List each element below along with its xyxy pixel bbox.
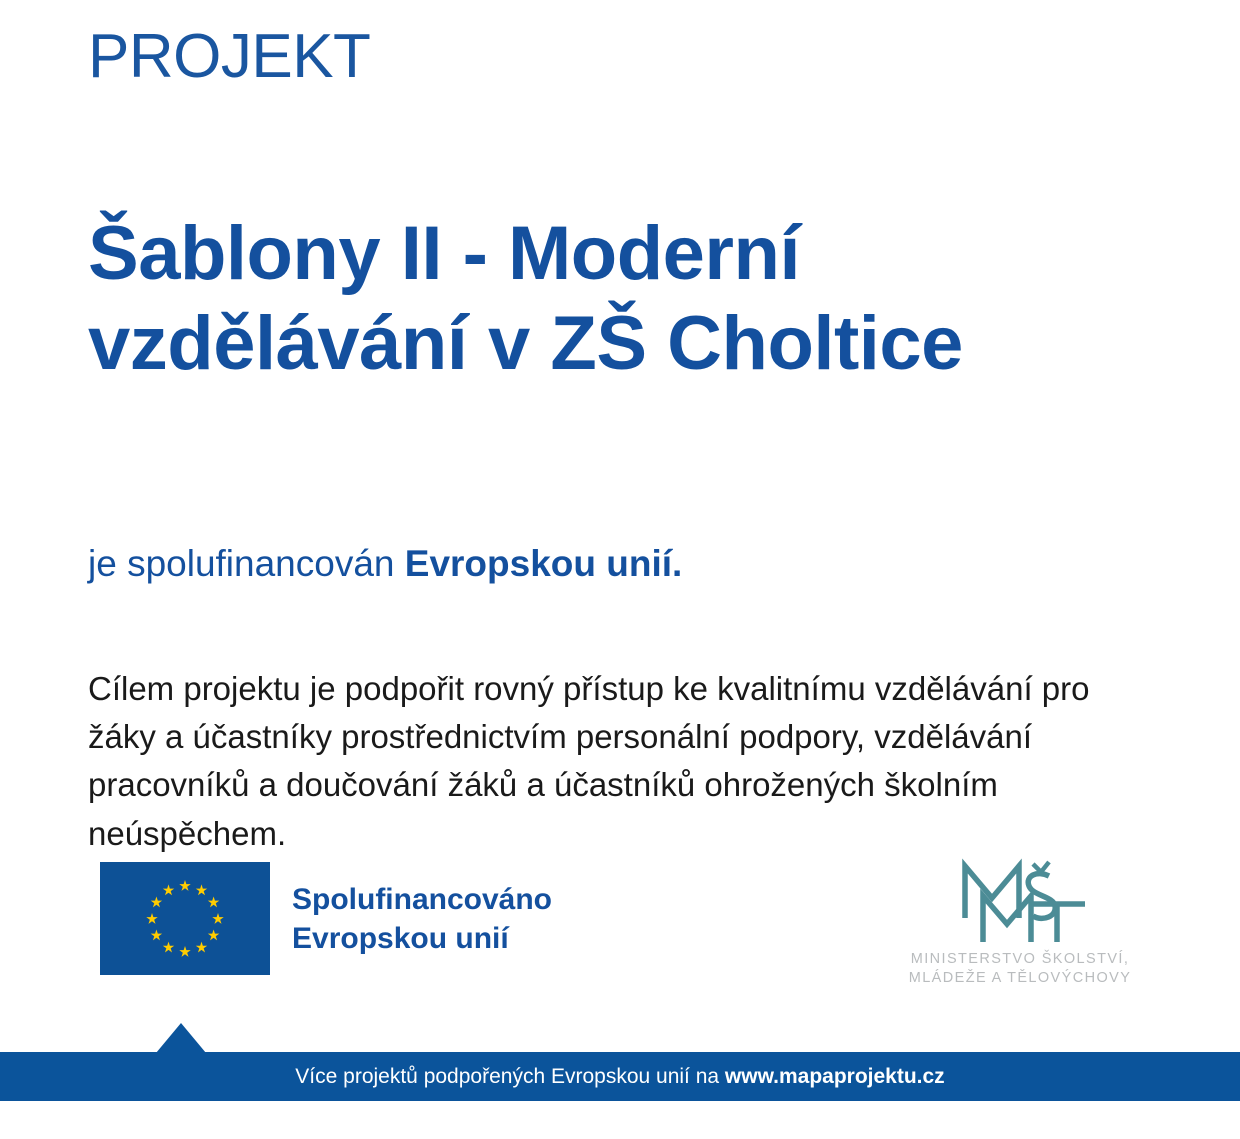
msmt-logo-caption: MINISTERSTVO ŠKOLSTVÍ, MLÁDEŽE A TĚLOVÝC…	[890, 950, 1150, 988]
msmt-caption-line-1: MINISTERSTVO ŠKOLSTVÍ,	[890, 950, 1150, 969]
logo-row: Spolufinancováno Evropskou unií	[0, 862, 1240, 992]
msmt-caption-line-2: MLÁDEŽE A TĚLOVÝCHOVY	[890, 969, 1150, 988]
subtitle: je spolufinancován Evropskou unií.	[88, 541, 682, 587]
eu-caption-line-1: Spolufinancováno	[292, 880, 552, 919]
eu-logo: Spolufinancováno Evropskou unií	[100, 862, 552, 975]
eu-caption-line-2: Evropskou unií	[292, 919, 552, 958]
project-banner: PROJEKT Šablony II - Moderní vzdělávání …	[0, 0, 1240, 1139]
subtitle-strong: Evropskou unií.	[405, 543, 683, 584]
footer-bar: Více projektů podpořených Evropskou unií…	[0, 1052, 1240, 1101]
msmt-monogram-icon	[890, 856, 1150, 948]
footer-arrow-icon	[156, 1023, 206, 1053]
footer-url[interactable]: www.mapaprojektu.cz	[725, 1065, 945, 1088]
eu-flag-icon	[100, 862, 270, 975]
eu-logo-caption: Spolufinancováno Evropskou unií	[292, 880, 552, 958]
msmt-logo: MINISTERSTVO ŠKOLSTVÍ, MLÁDEŽE A TĚLOVÝC…	[890, 856, 1150, 988]
eyebrow-label: PROJEKT	[88, 26, 370, 88]
subtitle-lead: je spolufinancován	[88, 543, 405, 584]
page-title: Šablony II - Moderní vzdělávání v ZŠ Cho…	[88, 209, 1048, 388]
footer-lead: Více projektů podpořených Evropskou unií…	[295, 1065, 725, 1088]
footer-text: Více projektů podpořených Evropskou unií…	[295, 1065, 944, 1089]
project-description: Cílem projektu je podpořit rovný přístup…	[88, 665, 1148, 858]
